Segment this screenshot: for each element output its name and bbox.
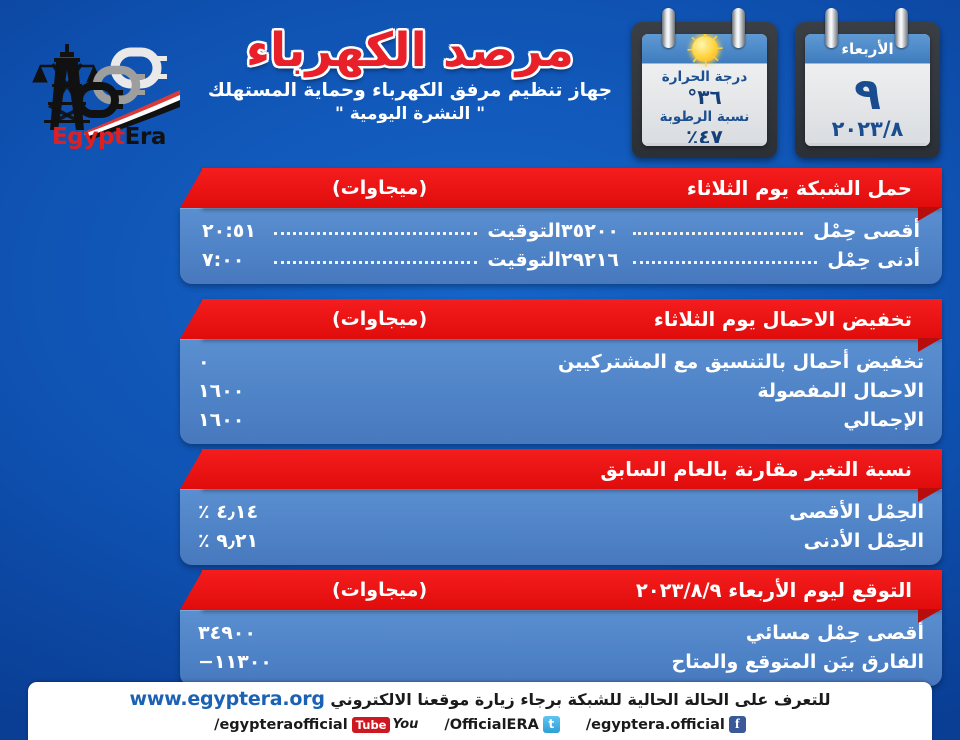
data-row: التوقيت ٧:٠٠ [202, 245, 561, 274]
footer-text: للتعرف على الحالة الحالية للشبكة برجاء ز… [330, 690, 830, 709]
website-url-link[interactable]: www.egyptera.org [129, 688, 324, 710]
data-row: الحِمْل الأقصى ٤٫١٤ ٪ [198, 497, 924, 526]
organization-subtitle: جهاز تنظيم مرفق الكهرباء وحماية المستهلك [200, 80, 620, 101]
row-label: الإجمالي [843, 409, 924, 431]
footer: للتعرف على الحالة الحالية للشبكة برجاء ز… [28, 682, 932, 740]
row-label: أقصى حِمْل [813, 220, 920, 242]
row-value: ٠ [198, 351, 260, 373]
social-links: f /egyptera.official t /OfficialERA You … [28, 716, 932, 733]
twitter-handle: /OfficialERA [444, 717, 538, 733]
row-value: ٣٤٩٠٠ [198, 622, 260, 644]
section-header: التوقع ليوم الأربعاء ٢٠٢٣/٨/٩ (ميجاوات) [202, 570, 942, 610]
date-readings: ٩ ٢٠٢٣/٨ [805, 64, 930, 141]
section-unit: (ميجاوات) [332, 177, 427, 199]
section-header: تخفيض الاحمال يوم الثلاثاء (ميجاوات) [202, 299, 942, 339]
weather-widget: درجة الحرارة ٣٦° نسبة الرطوبة ٤٧٪ [632, 8, 777, 158]
weather-widget-header [642, 34, 767, 64]
section-body: الحِمْل الأقصى ٤٫١٤ ٪ الحِمْل الأدنى ٩٫٢… [180, 489, 942, 565]
logo-word-egypt: Egypt [52, 124, 125, 150]
leader-dots [274, 232, 477, 235]
infographic-page: EgyptEra مرصد الكهرباء جهاز تنظيم مرفق ا… [0, 0, 960, 740]
row-value: ٩٫٢١ ٪ [198, 530, 260, 552]
weekday-label: الأربعاء [841, 40, 893, 58]
sun-icon [692, 36, 718, 62]
row-value: ٢٠:٥١ [202, 220, 264, 242]
data-row: أقصى حِمْل مسائي ٣٤٩٠٠ [198, 618, 924, 647]
temperature-label: درجة الحرارة [646, 69, 763, 86]
row-label: أدنى حِمْل [827, 249, 920, 271]
logo-word-era: Era [125, 124, 166, 150]
data-row: الاحمال المفصولة ١٦٠٠ [198, 376, 924, 405]
section-forecast: التوقع ليوم الأربعاء ٢٠٢٣/٨/٩ (ميجاوات) … [180, 570, 942, 686]
footer-website-line: للتعرف على الحالة الحالية للشبكة برجاء ز… [28, 688, 932, 710]
facebook-link[interactable]: f /egyptera.official [586, 716, 746, 733]
weather-widget-body: درجة الحرارة ٣٦° نسبة الرطوبة ٤٧٪ [642, 34, 767, 146]
row-label: تخفيض أحمال بالتنسيق مع المشتركيين [558, 351, 924, 373]
section-title: حمل الشبكة يوم الثلاثاء [687, 177, 912, 200]
youtube-link[interactable]: You Tube /egypteraofficial [214, 717, 418, 733]
section-yearly-change: نسبة التغير مقارنة بالعام السابق الحِمْل… [180, 449, 942, 565]
logo-wordmark: EgyptEra [52, 126, 166, 149]
section-unit: (ميجاوات) [332, 308, 427, 330]
section-body: أقصى حِمْل ٣٥٢٠٠ أدنى حِمْل ٢٩٢١٦ التوقي… [180, 208, 942, 284]
youtube-icon-you: You [392, 717, 418, 732]
row-label: التوقيت [487, 249, 561, 271]
facebook-handle: /egyptera.official [586, 717, 725, 733]
egyptera-logo: EgyptEra [22, 38, 192, 150]
humidity-value: ٤٧٪ [646, 126, 763, 146]
data-row: الحِمْل الأدنى ٩٫٢١ ٪ [198, 526, 924, 555]
section-header: نسبة التغير مقارنة بالعام السابق [202, 449, 942, 489]
weather-readings: درجة الحرارة ٣٦° نسبة الرطوبة ٤٧٪ [642, 64, 767, 146]
date-widget-header: الأربعاء [805, 34, 930, 64]
calendar-ring-icon [662, 8, 675, 48]
data-row: أدنى حِمْل ٢٩٢١٦ [561, 245, 920, 274]
youtube-handle: /egypteraofficial [214, 717, 348, 733]
row-value: ١٦٠٠ [198, 409, 260, 431]
page-title: مرصد الكهرباء [200, 26, 620, 75]
date-widget-body: الأربعاء ٩ ٢٠٢٣/٨ [805, 34, 930, 146]
bulletin-subtitle: " النشرة اليومية " [200, 104, 620, 124]
row-value: ٢٩٢١٦ [561, 249, 623, 271]
section-header: حمل الشبكة يوم الثلاثاء (ميجاوات) [202, 168, 942, 208]
youtube-icon-tube: Tube [352, 717, 391, 733]
row-value: ٧:٠٠ [202, 249, 264, 271]
section-load-reduction: تخفيض الاحمال يوم الثلاثاء (ميجاوات) تخف… [180, 299, 942, 444]
calendar-ring-icon [732, 8, 745, 48]
day-number: ٩ [809, 73, 926, 117]
two-column-rows: أقصى حِمْل ٣٥٢٠٠ أدنى حِمْل ٢٩٢١٦ التوقي… [198, 216, 924, 274]
data-row: أقصى حِمْل ٣٥٢٠٠ [561, 216, 920, 245]
section-network-load: حمل الشبكة يوم الثلاثاء (ميجاوات) أقصى ح… [180, 168, 942, 284]
data-row: التوقيت ٢٠:٥١ [202, 216, 561, 245]
section-title: نسبة التغير مقارنة بالعام السابق [600, 458, 912, 481]
data-row: الإجمالي ١٦٠٠ [198, 405, 924, 434]
column-loads: أقصى حِمْل ٣٥٢٠٠ أدنى حِمْل ٢٩٢١٦ [561, 216, 924, 274]
row-value: ١٦٠٠ [198, 380, 260, 402]
temperature-value: ٣٦° [646, 86, 763, 109]
column-timing: التوقيت ٢٠:٥١ التوقيت ٧:٠٠ [198, 216, 561, 274]
twitter-icon: t [543, 716, 560, 733]
leader-dots [274, 261, 477, 264]
calendar-ring-icon [825, 8, 838, 48]
youtube-icon: You Tube [352, 717, 419, 733]
section-body: أقصى حِمْل مسائي ٣٤٩٠٠ الفارق بيَن المتو… [180, 610, 942, 686]
row-label: الفارق بيَن المتوقع والمتاح [672, 651, 924, 673]
leader-dots [633, 261, 817, 264]
facebook-icon: f [729, 716, 746, 733]
row-label: الحِمْل الأدنى [804, 530, 924, 552]
date-widget: الأربعاء ٩ ٢٠٢٣/٨ [795, 8, 940, 158]
row-value: ٣٥٢٠٠ [561, 220, 623, 242]
section-body: تخفيض أحمال بالتنسيق مع المشتركيين ٠ الا… [180, 339, 942, 444]
header: EgyptEra مرصد الكهرباء جهاز تنظيم مرفق ا… [0, 0, 960, 165]
leader-dots [633, 232, 803, 235]
row-label: التوقيت [487, 220, 561, 242]
humidity-label: نسبة الرطوبة [646, 109, 763, 126]
calendar-ring-icon [895, 8, 908, 48]
row-label: الحِمْل الأقصى [789, 501, 924, 523]
section-title: التوقع ليوم الأربعاء ٢٠٢٣/٨/٩ [636, 579, 912, 602]
row-label: الاحمال المفصولة [757, 380, 924, 402]
section-title: تخفيض الاحمال يوم الثلاثاء [654, 308, 912, 331]
month-year: ٢٠٢٣/٨ [809, 118, 926, 141]
row-label: أقصى حِمْل مسائي [746, 622, 924, 644]
data-row: تخفيض أحمال بالتنسيق مع المشتركيين ٠ [198, 347, 924, 376]
row-value: ١١٣٠٠− [198, 651, 272, 673]
row-value: ٤٫١٤ ٪ [198, 501, 260, 523]
data-row: الفارق بيَن المتوقع والمتاح ١١٣٠٠− [198, 647, 924, 676]
title-block: مرصد الكهرباء جهاز تنظيم مرفق الكهرباء و… [200, 26, 620, 124]
twitter-link[interactable]: t /OfficialERA [444, 716, 559, 733]
section-unit: (ميجاوات) [332, 579, 427, 601]
